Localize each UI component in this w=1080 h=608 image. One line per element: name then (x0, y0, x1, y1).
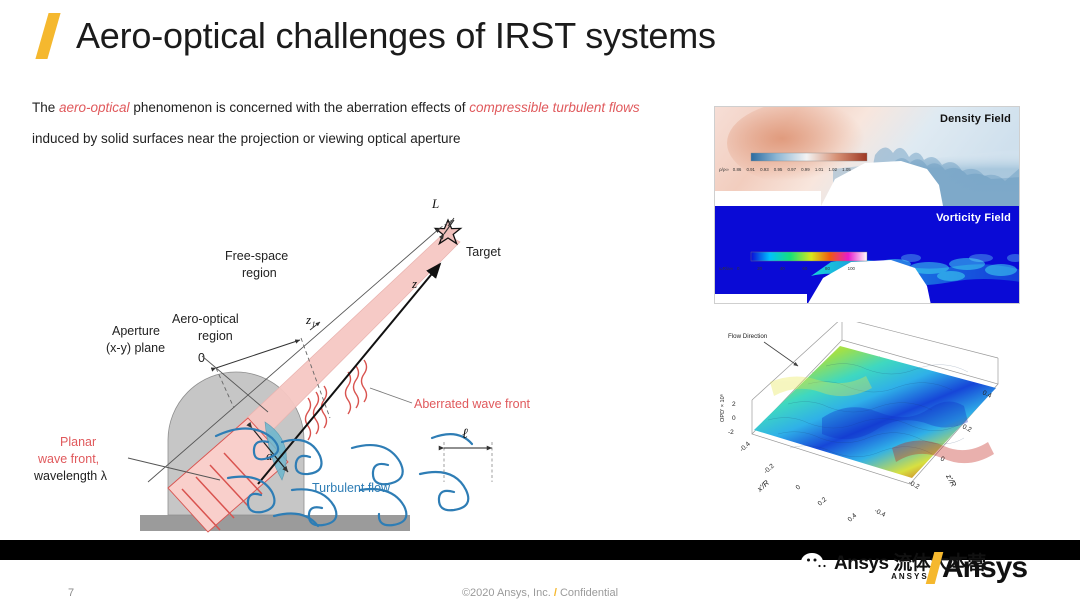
ansys-slash-icon (925, 552, 945, 584)
flow-direction-label: Flow Direction (728, 333, 768, 340)
aero-optical-schematic-figure: a z Target L Free-space region Aero-opti… (20, 190, 690, 550)
svg-text:2: 2 (732, 401, 736, 408)
z-axis-arrow (258, 264, 440, 484)
colorbar-tick: 40 (780, 266, 785, 271)
colorbar-tick: 0.86 (733, 167, 742, 172)
opd-surface-plot-figure: Flow Direction 2 0 -2 OPD′ × 10⁶ -0.4 -0… (714, 322, 1020, 538)
copyright-right: Confidential (560, 587, 618, 599)
copyright-left: ©2020 Ansys, Inc. (462, 587, 551, 599)
vorticity-field-caption: Vorticity Field (936, 212, 1011, 224)
colorbar-tick: 0.95 (774, 167, 783, 172)
planar-wavefront-label-line1: Planar (60, 435, 96, 449)
page-title: Aero-optical challenges of IRST systems (76, 15, 716, 57)
paragraph-text-3: induced by solid surfaces near the proje… (32, 131, 461, 146)
emphasis-compressible: compressible (469, 100, 549, 115)
title-accent-slash-icon (34, 13, 68, 59)
svg-text:0.2: 0.2 (961, 424, 973, 434)
copyright-slash-icon: / (554, 587, 557, 599)
lead-paragraph: The aero-optical phenomenon is concerned… (32, 92, 652, 154)
colorbar-tick: 1.01 (815, 167, 824, 172)
density-field-image: Density Field ρ/ρ∞ 0.860.910.930.950.970… (715, 107, 1019, 206)
density-field-caption: Density Field (940, 113, 1011, 125)
density-colorbar-legend: ρ/ρ∞ 0.860.910.930.950.970.991.011.021.0… (719, 167, 879, 172)
svg-text:-2: -2 (728, 429, 734, 436)
aperture-label-line1: Aperture (112, 324, 160, 338)
vorticity-colorbar-label: ωR/a∞ (719, 266, 733, 271)
svg-text:-0.4: -0.4 (873, 508, 887, 519)
density-colorbar-label: ρ/ρ∞ (719, 167, 729, 172)
svg-text:0: 0 (732, 415, 736, 422)
colorbar-tick: 1.02 (828, 167, 837, 172)
svg-text:0: 0 (795, 484, 803, 492)
aero-optical-region-label-line2: region (198, 329, 233, 343)
colorbar-tick: 100 (848, 266, 855, 271)
x-axis-label: x'/R (755, 478, 772, 494)
aero-optical-region-label-line1: Aero-optical (172, 312, 239, 326)
ansys-logo: Ansys (925, 551, 1027, 585)
free-space-region-label-line2: region (242, 266, 277, 280)
colorbar-tick: 0.93 (760, 167, 769, 172)
emphasis-aero-optical: aero-optical (59, 100, 130, 115)
vorticity-field-image: Vorticity Field ωR/a∞ 020406080100 (715, 206, 1019, 304)
paragraph-text-2: phenomenon is concerned with the aberrat… (130, 100, 470, 115)
colorbar-tick: 0.97 (787, 167, 796, 172)
target-label: Target (466, 245, 501, 259)
colorbar-tick: 60 (802, 266, 807, 271)
colorbar-tick: 0 (737, 266, 739, 271)
planar-wavefront-label-line2: wave front, (37, 452, 99, 466)
turbulent-flow-label: Turbulent flow (312, 481, 391, 495)
wechat-icon (800, 551, 830, 577)
svg-text:-0.4: -0.4 (739, 440, 752, 453)
colorbar-tick: 0.91 (746, 167, 755, 172)
colorbar-tick: 0.99 (801, 167, 810, 172)
opd-surface-mesh (754, 346, 996, 478)
free-space-region-label-line1: Free-space (225, 249, 288, 263)
emphasis-turbulent-flows: turbulent flows (553, 100, 640, 115)
aberrated-wavefront-label: Aberrated wave front (414, 397, 531, 411)
colorbar-tick: 80 (825, 266, 830, 271)
vorticity-colorbar-ticks: 020406080100 (737, 266, 855, 271)
svg-text:0.4: 0.4 (847, 512, 859, 524)
paragraph-text-1: The (32, 100, 59, 115)
vorticity-colorbar-legend: ωR/a∞ 020406080100 (719, 266, 879, 271)
aberrated-leader-line (370, 388, 412, 403)
colorbar-tick: 20 (757, 266, 762, 271)
z1-label: z₁ (305, 312, 316, 327)
eddy-scale-label: ℓ (462, 427, 468, 442)
density-colorbar-ticks: 0.860.910.930.950.970.991.011.021.05 (733, 167, 851, 172)
value-axis-label: OPD′ × 10⁶ (719, 394, 726, 422)
svg-text:-0.2: -0.2 (763, 462, 776, 475)
z-axis-label: z'/R (944, 472, 959, 489)
cfd-field-panel: Density Field ρ/ρ∞ 0.860.910.930.950.970… (714, 106, 1020, 304)
aero-optical-extent-arrow (216, 340, 300, 368)
svg-text:0.2: 0.2 (817, 496, 829, 508)
z-axis-label: z (411, 276, 417, 291)
ansys-wordmark: Ansys (942, 551, 1027, 585)
L-label: L (431, 196, 439, 211)
colorbar-tick: 1.05 (842, 167, 851, 172)
svg-text:-0.2: -0.2 (907, 480, 921, 491)
flow-direction-arrow (764, 342, 798, 366)
slide-header: Aero-optical challenges of IRST systems (0, 8, 760, 64)
value-axis: 2 0 -2 OPD′ × 10⁶ (719, 394, 736, 436)
aperture-label-line2: (x-y) plane (106, 341, 165, 355)
ground-slab (140, 515, 410, 531)
planar-wavefront-label-line3: wavelength λ (33, 469, 108, 483)
